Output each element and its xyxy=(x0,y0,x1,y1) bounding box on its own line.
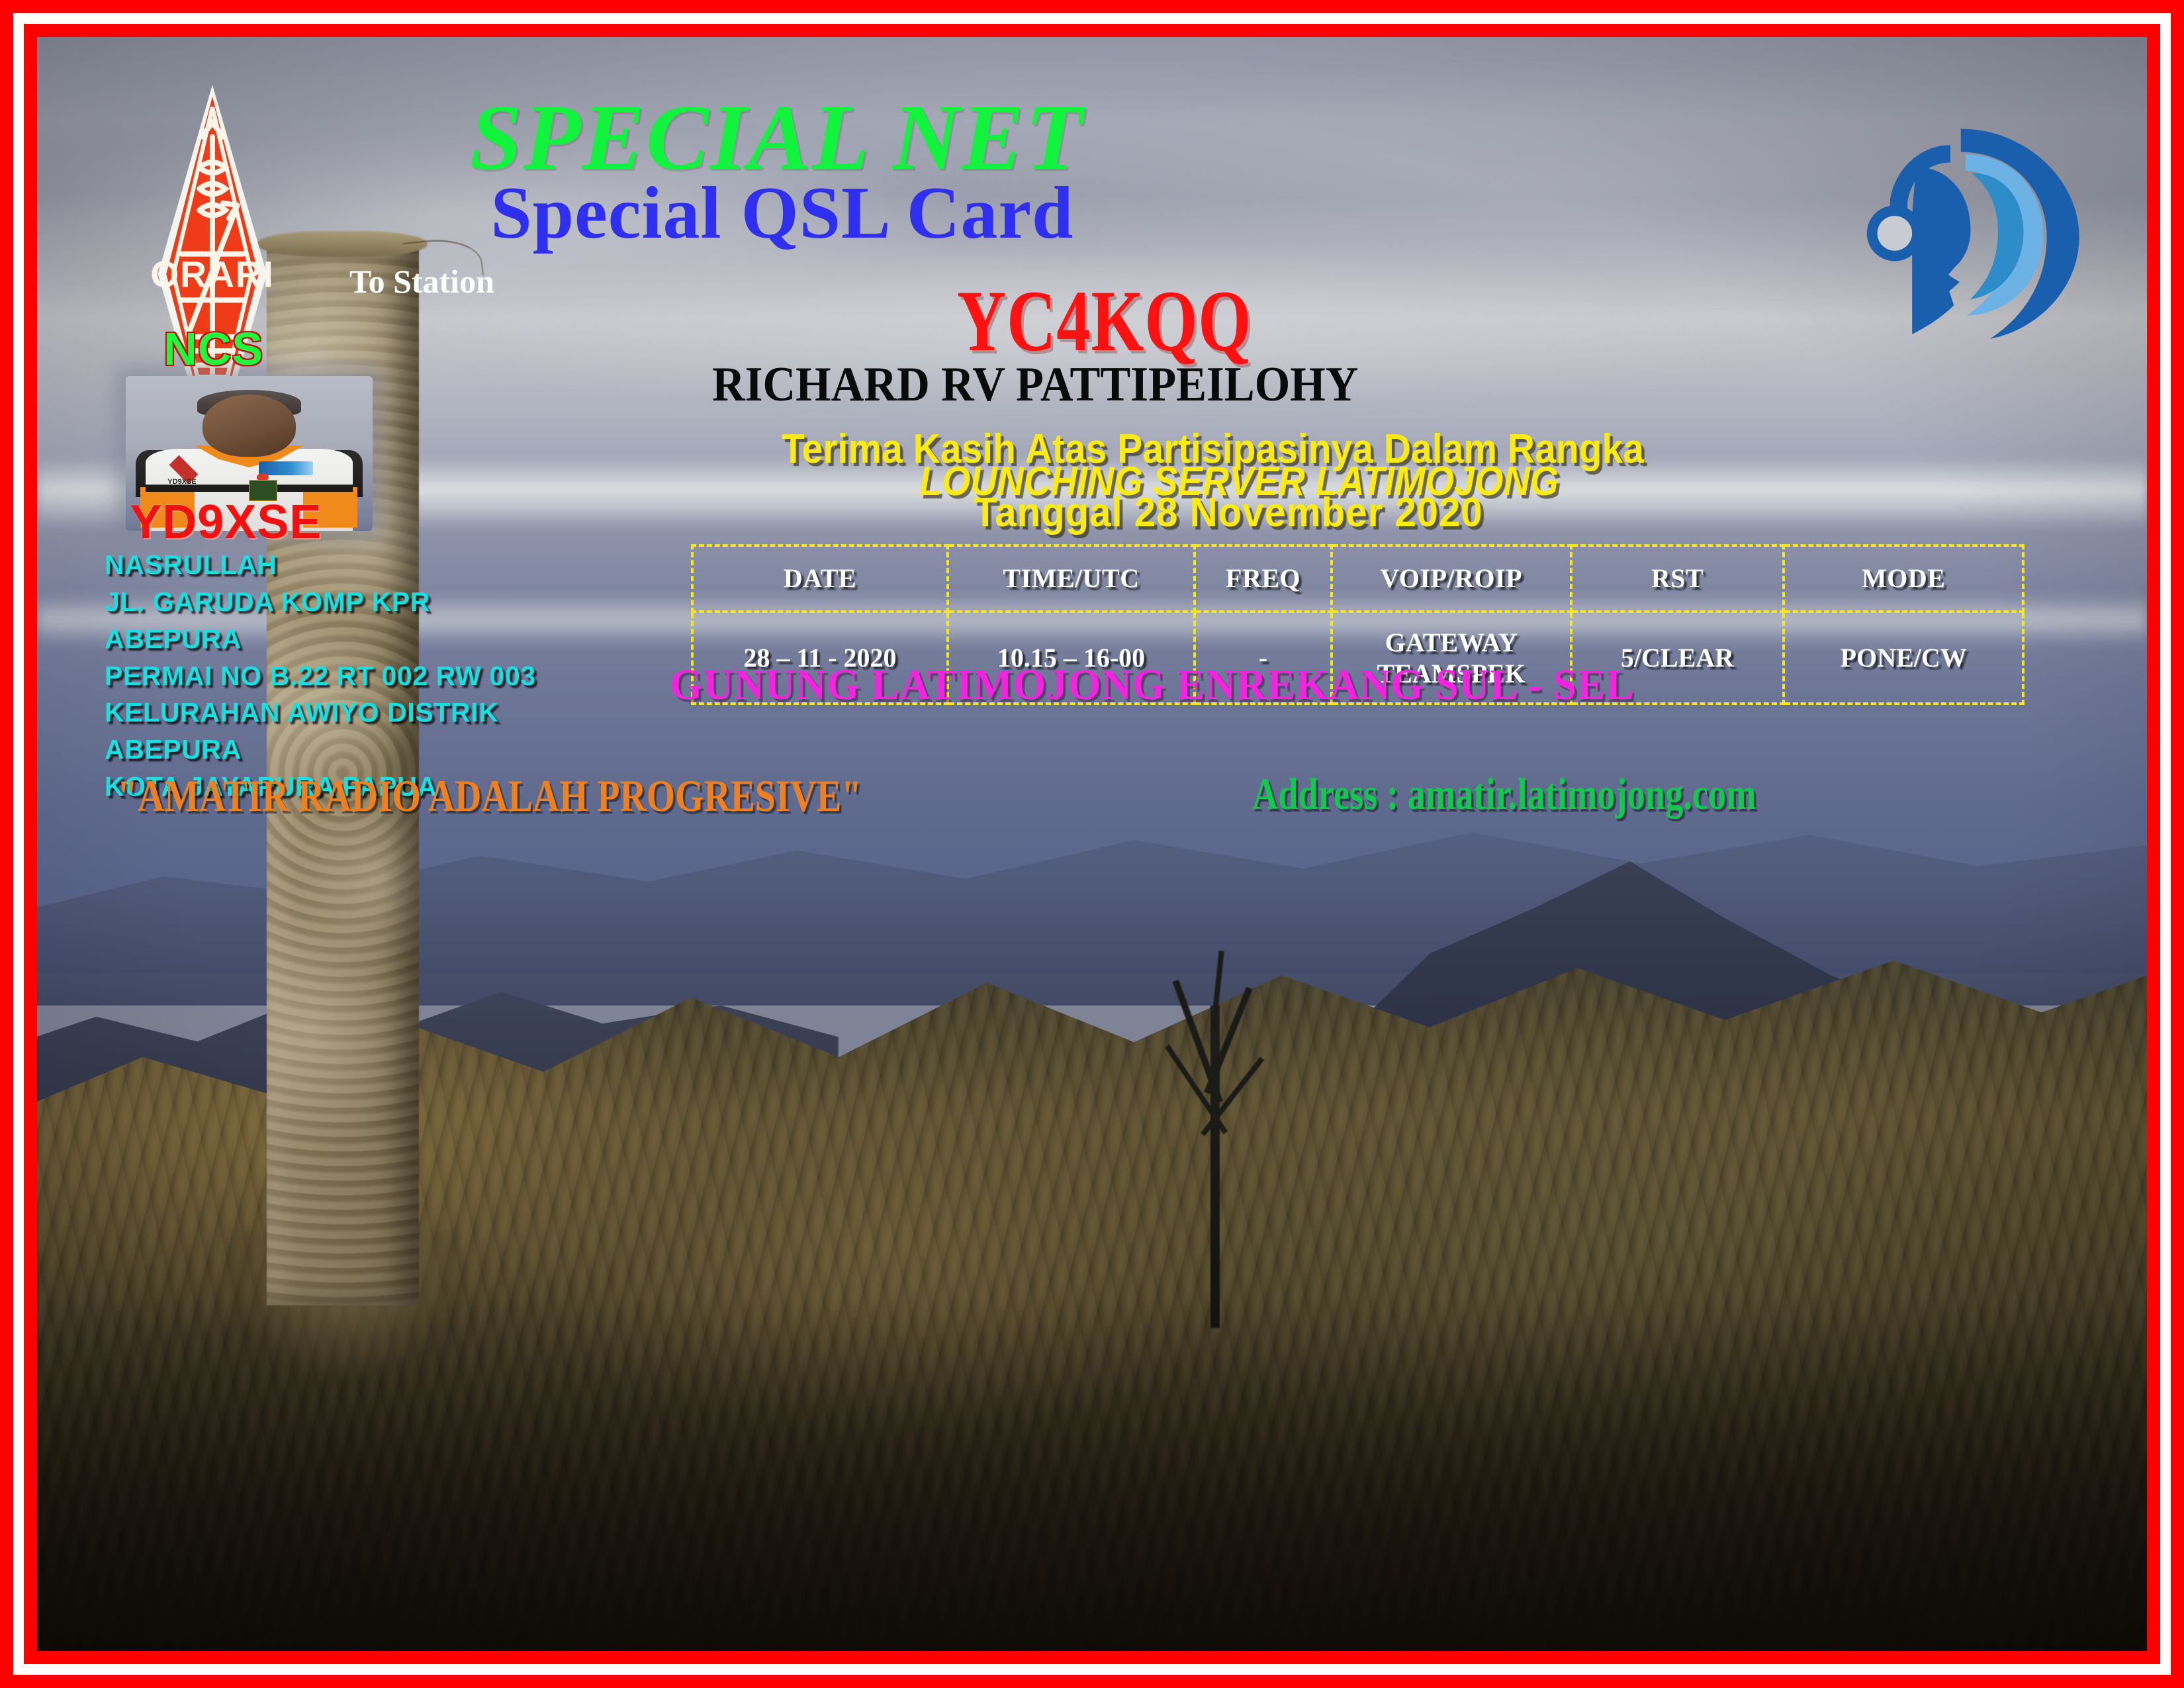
location-line: GUNUNG LATIMOJONG ENREKANG SUL - SEL xyxy=(670,663,1634,707)
address-line: PERMAI NO B.22 RT 002 RW 003 xyxy=(105,658,536,695)
ncs-callsign: YD9XSE xyxy=(130,498,322,546)
photo-chest-emblem xyxy=(259,461,313,475)
column-header-mode: MODE xyxy=(1784,545,2023,612)
card-white-gap: ORARI xyxy=(13,13,2171,1675)
column-header-rst: RST xyxy=(1571,545,1784,612)
ncs-label: NCS xyxy=(163,326,263,372)
photo-face xyxy=(203,395,296,457)
card-photo-stage: ORARI xyxy=(37,37,2147,1651)
address-line: NASRULLAH xyxy=(105,547,536,584)
headset-broadcast-icon xyxy=(1852,97,2084,363)
photo-shirt-callsign: YD9XSE xyxy=(167,478,196,486)
website-address-text: Address : amatir.latimojong.com xyxy=(1252,771,1756,816)
address-line: ABEPURA xyxy=(105,621,536,658)
to-station-label: To Station xyxy=(349,265,494,298)
qsl-card: ORARI xyxy=(0,0,2184,1688)
orari-logo-text: ORARI xyxy=(150,254,274,295)
column-header-time: TIME/UTC xyxy=(948,545,1195,612)
page-subtitle: Special QSL Card xyxy=(490,176,1073,250)
address-line: ABEPURA xyxy=(105,731,536,769)
sender-address-block: NASRULLAH JL. GARUDA KOMP KPR ABEPURA PE… xyxy=(105,547,536,805)
column-header-date: DATE xyxy=(692,545,947,612)
event-date-line: Tanggal 28 November 2020 xyxy=(974,492,1483,534)
column-header-voip: VOIP/ROIP xyxy=(1332,545,1571,612)
address-line: JL. GARUDA KOMP KPR xyxy=(105,584,536,621)
table-header-row: DATE TIME/UTC FREQ VOIP/ROIP RST MODE xyxy=(692,545,2023,612)
operator-name: RICHARD RV PATTIPEILOHY xyxy=(712,360,1358,409)
cell-voip-line1: GATEWAY xyxy=(1385,628,1518,657)
slogan-text: "AMATIR RADIO ADALAH PROGRESIVE" xyxy=(117,773,862,818)
cell-mode: PONE/CW xyxy=(1784,612,2023,704)
station-callsign: YC4KQQ xyxy=(957,277,1251,365)
address-line: KELURAHAN AWIYO DISTRIK xyxy=(105,694,536,731)
page-title: SPECIAL NET xyxy=(470,90,1084,184)
card-inner-red-border: ORARI xyxy=(24,24,2160,1664)
column-header-freq: FREQ xyxy=(1195,545,1332,612)
